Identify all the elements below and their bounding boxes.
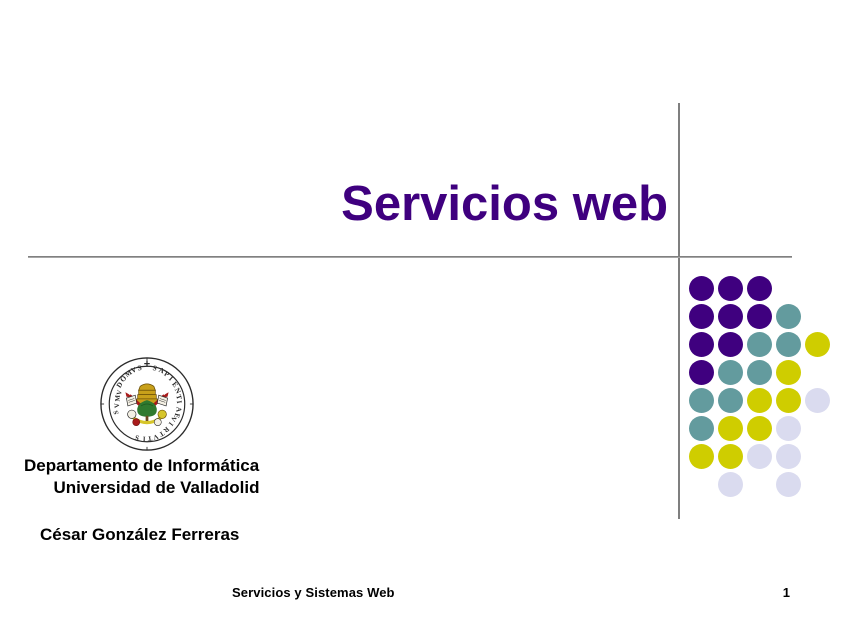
dot-purple (689, 276, 714, 301)
dot-purple (718, 332, 743, 357)
dot-empty (805, 444, 830, 469)
svg-text:V: V (114, 403, 121, 409)
dot-purple (689, 304, 714, 329)
dot-yellow (747, 416, 772, 441)
dot-matrix-row (689, 472, 839, 500)
dot-teal (776, 332, 801, 357)
dot-empty (747, 472, 772, 497)
footer-page-number: 1 (760, 585, 790, 600)
dot-yellow (689, 444, 714, 469)
dot-lavender (747, 444, 772, 469)
affiliation-block: Departamento de Informática Universidad … (24, 455, 344, 500)
dot-matrix-row (689, 304, 839, 332)
dot-lavender (776, 416, 801, 441)
dot-teal (718, 360, 743, 385)
dot-lavender (805, 388, 830, 413)
footer-course-title: Servicios y Sistemas Web (232, 585, 395, 600)
dot-matrix-row (689, 332, 839, 360)
dot-teal (747, 360, 772, 385)
dot-matrix-row (689, 388, 839, 416)
dot-yellow (718, 416, 743, 441)
vertical-divider-line (678, 103, 680, 519)
dot-teal (689, 416, 714, 441)
dot-matrix-row (689, 276, 839, 304)
slide-title: Servicios web (60, 180, 668, 229)
dot-lavender (718, 472, 743, 497)
dot-yellow (776, 388, 801, 413)
dot-yellow (805, 332, 830, 357)
presentation-slide: Servicios web D O M V S S A (0, 0, 848, 636)
dot-purple (689, 332, 714, 357)
dot-empty (805, 416, 830, 441)
dot-empty (805, 472, 830, 497)
dot-purple (689, 360, 714, 385)
dot-yellow (747, 388, 772, 413)
dot-purple (747, 304, 772, 329)
university-logo: D O M V S S A P I E N T I A E S V M (98, 355, 196, 453)
horizontal-divider-line (28, 256, 792, 258)
department-name: Departamento de Informática (24, 455, 344, 477)
dot-matrix-row (689, 360, 839, 388)
dot-empty (776, 276, 801, 301)
dot-empty (689, 472, 714, 497)
dot-empty (805, 276, 830, 301)
dot-yellow (776, 360, 801, 385)
dot-matrix-row (689, 416, 839, 444)
dot-matrix-decoration (689, 276, 839, 491)
dot-purple (718, 276, 743, 301)
university-name: Universidad de Valladolid (24, 477, 289, 499)
dot-matrix-row (689, 444, 839, 472)
dot-purple (747, 276, 772, 301)
dot-lavender (776, 472, 801, 497)
author-name: César González Ferreras (40, 525, 380, 545)
dot-yellow (718, 444, 743, 469)
dot-purple (718, 304, 743, 329)
dot-empty (805, 304, 830, 329)
dot-teal (776, 304, 801, 329)
dot-lavender (776, 444, 801, 469)
dot-empty (805, 360, 830, 385)
dot-teal (718, 388, 743, 413)
dot-teal (747, 332, 772, 357)
dot-teal (689, 388, 714, 413)
